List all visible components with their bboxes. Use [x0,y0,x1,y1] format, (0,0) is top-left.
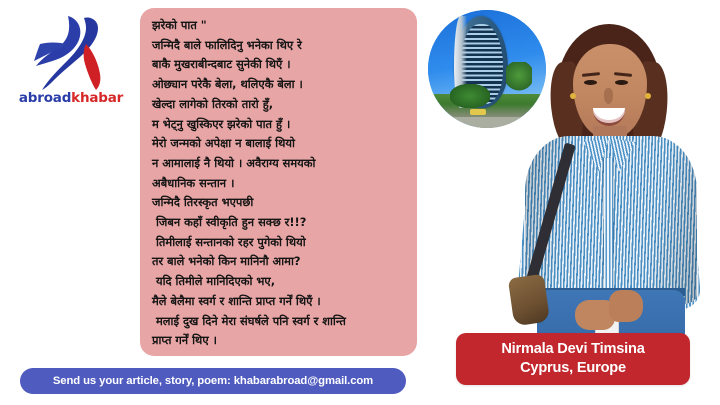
woman-portrait-photo [505,18,705,366]
author-location: Cyprus, Europe [520,359,626,378]
handbag [508,274,550,327]
brand-wordmark-part1: abroad [19,90,71,106]
poem-card: झरेको पात " जन्मिदै बाले फालिदिनु भनेका … [140,8,417,356]
brand-wordmark: abroadkhabar [16,90,126,106]
submit-article-cta-pill[interactable]: Send us your article, story, poem: khaba… [20,368,406,394]
author-name-banner: Nirmala Devi Timsina Cyprus, Europe [456,333,690,385]
yellow-car-icon [470,109,486,115]
shrub-icon [450,84,490,108]
poster-canvas: abroadkhabar झरेको पात " जन्मिदै बाले फा… [0,0,720,405]
brand-logo[interactable]: abroadkhabar [16,14,126,118]
author-name: Nirmala Devi Timsina [501,340,644,359]
shirt-button-placket [604,158,613,304]
brand-wordmark-part2: khabar [71,90,123,106]
eye-left [584,80,597,85]
eye-right [615,80,628,85]
abroadkhabar-logo-mark-icon [28,14,114,92]
poem-text: झरेको पात " जन्मिदै बाले फालिदिनु भनेका … [152,16,407,351]
submit-article-cta-label: Send us your article, story, poem: khaba… [53,375,373,387]
earring-right [645,93,651,99]
earring-left [570,93,576,99]
nose [604,88,613,104]
hand-right [609,290,643,322]
